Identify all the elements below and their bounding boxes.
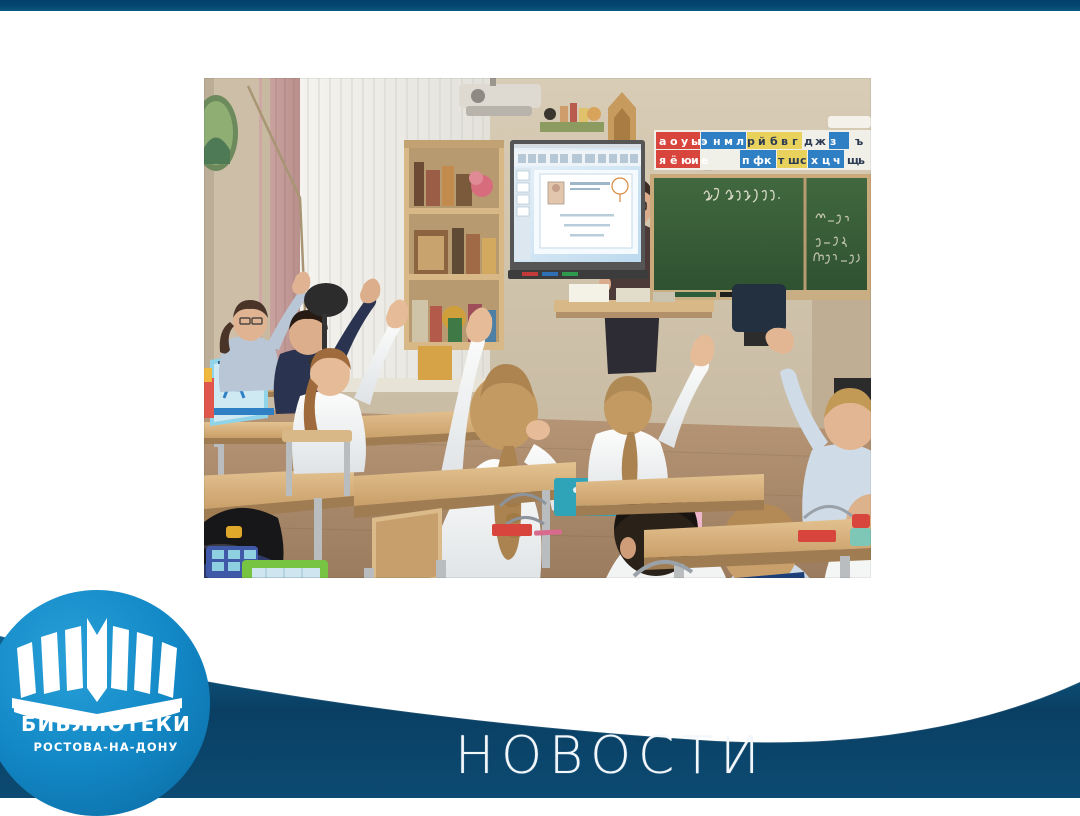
svg-text:й: й bbox=[758, 135, 766, 148]
chair bbox=[364, 508, 446, 578]
svg-text:в: в bbox=[781, 135, 788, 148]
svg-text:а: а bbox=[659, 135, 666, 148]
library-logo[interactable] bbox=[0, 590, 210, 816]
svg-text:ъ: ъ bbox=[855, 135, 863, 148]
svg-text:и: и bbox=[691, 154, 699, 167]
alphabet-chart: аоу ыэ нмл р й б в г д ж з ъ яёю ие пфк … bbox=[654, 130, 871, 170]
svg-text:р: р bbox=[747, 135, 755, 148]
svg-text:м: м bbox=[724, 135, 733, 148]
svg-text:ш: ш bbox=[788, 154, 800, 167]
svg-text:е: е bbox=[701, 154, 708, 167]
svg-text:т: т bbox=[778, 154, 785, 167]
svg-text:л: л bbox=[736, 135, 744, 148]
svg-text:к: к bbox=[764, 154, 772, 167]
svg-text:ж: ж bbox=[815, 135, 826, 148]
svg-text:п: п bbox=[742, 154, 750, 167]
svg-text:г: г bbox=[792, 135, 798, 148]
chalkboard bbox=[648, 174, 871, 300]
classroom-photo-illustration: аоу ыэ нмл р й б в г д ж з ъ яёю ие пфк … bbox=[204, 78, 871, 578]
svg-text:д: д bbox=[804, 135, 813, 148]
svg-text:с: с bbox=[800, 154, 807, 167]
news-photo: аоу ыэ нмл р й б в г д ж з ъ яёю ие пфк … bbox=[204, 78, 871, 578]
svg-text:ф: ф bbox=[753, 154, 764, 167]
svg-text:я: я bbox=[659, 154, 666, 167]
top-accent-bar bbox=[0, 0, 1080, 11]
svg-text:ь: ь bbox=[858, 154, 865, 167]
svg-text:ё: ё bbox=[670, 154, 677, 167]
svg-text:у: у bbox=[681, 135, 688, 148]
svg-text:ц: ц bbox=[822, 154, 830, 167]
interactive-whiteboard bbox=[508, 140, 648, 279]
svg-text:б: б bbox=[770, 135, 778, 148]
news-heading: НОВОСТИ bbox=[455, 726, 766, 786]
svg-text:ы: ы bbox=[691, 135, 701, 148]
svg-text:з: з bbox=[830, 135, 836, 148]
svg-text:э: э bbox=[701, 135, 708, 148]
svg-text:х: х bbox=[811, 154, 818, 167]
svg-text:н: н bbox=[713, 135, 721, 148]
svg-text:ч: ч bbox=[833, 154, 841, 167]
svg-text:о: о bbox=[670, 135, 678, 148]
